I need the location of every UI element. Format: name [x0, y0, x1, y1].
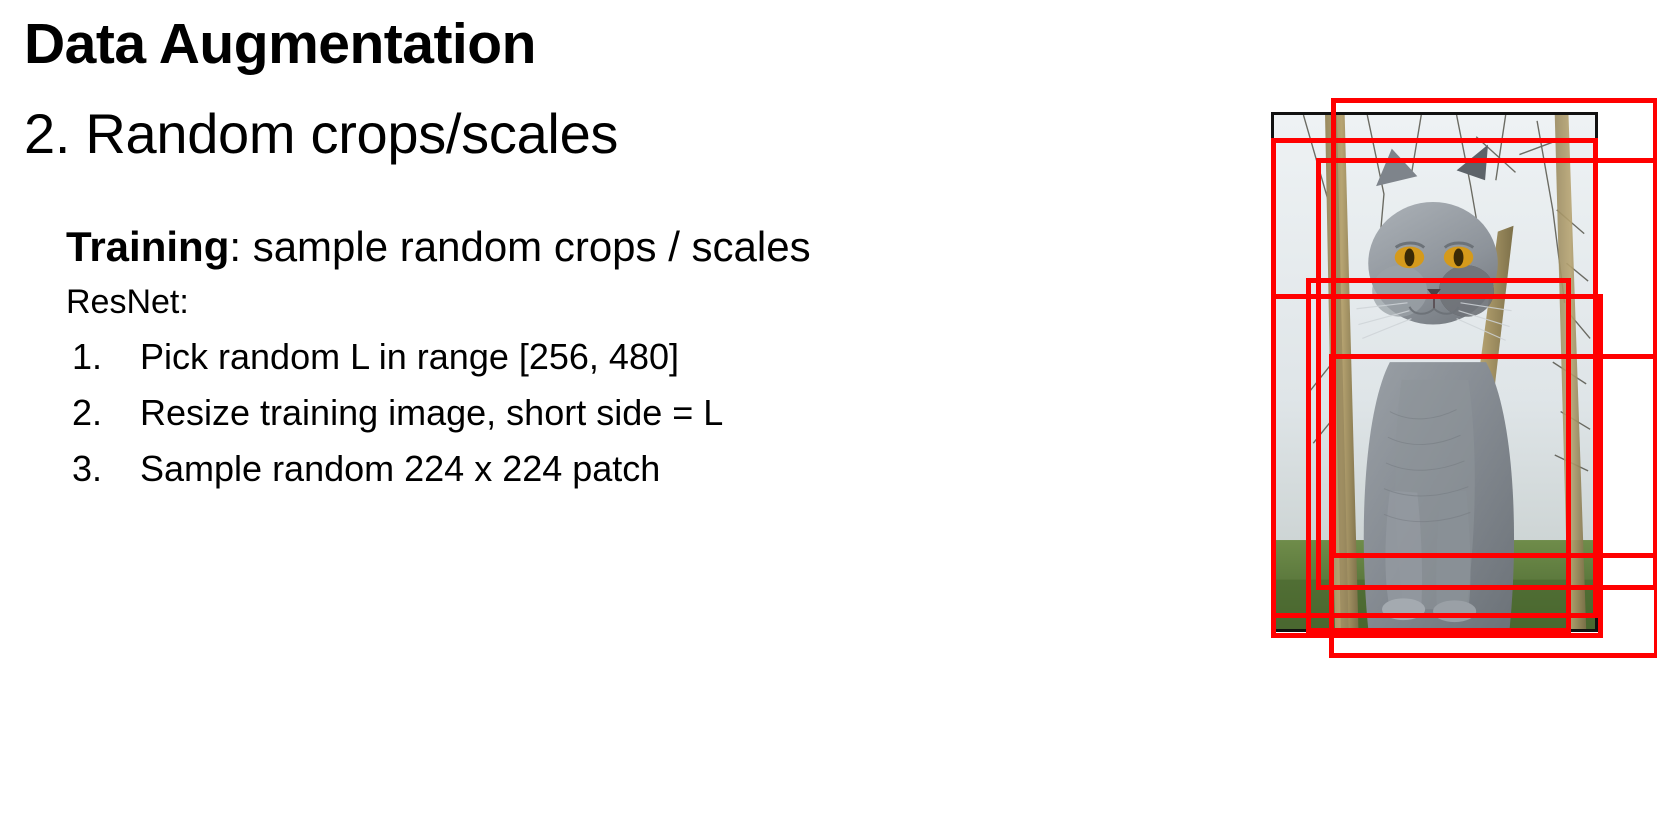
step-marker: 2. [66, 385, 140, 441]
crop-box-4 [1271, 294, 1603, 638]
training-label: Training [66, 223, 229, 270]
crop-box-2 [1271, 138, 1598, 618]
page-title: Data Augmentation [24, 14, 536, 76]
list-item: 3. Sample random 224 x 224 patch [66, 441, 1116, 497]
training-line: Training: sample random crops / scales [66, 222, 1116, 272]
step-text: Sample random 224 x 224 patch [140, 441, 660, 497]
step-marker: 1. [66, 329, 140, 385]
resnet-steps-list: 1. Pick random L in range [256, 480] 2. … [66, 329, 1116, 496]
list-item: 1. Pick random L in range [256, 480] [66, 329, 1116, 385]
crop-box-1 [1331, 98, 1657, 558]
page-subtitle: 2. Random crops/scales [24, 104, 618, 164]
training-image-figure [1271, 112, 1598, 632]
list-item: 2. Resize training image, short side = L [66, 385, 1116, 441]
body-content: Training: sample random crops / scales R… [66, 222, 1116, 496]
step-text: Resize training image, short side = L [140, 385, 723, 441]
resnet-label: ResNet: [66, 282, 1116, 323]
crop-box-6 [1329, 354, 1657, 658]
crop-box-5 [1306, 278, 1571, 633]
step-marker: 3. [66, 441, 140, 497]
crop-box-overlay [1211, 98, 1657, 658]
step-text: Pick random L in range [256, 480] [140, 329, 679, 385]
crop-box-3 [1316, 158, 1657, 590]
training-description: : sample random crops / scales [229, 223, 810, 270]
